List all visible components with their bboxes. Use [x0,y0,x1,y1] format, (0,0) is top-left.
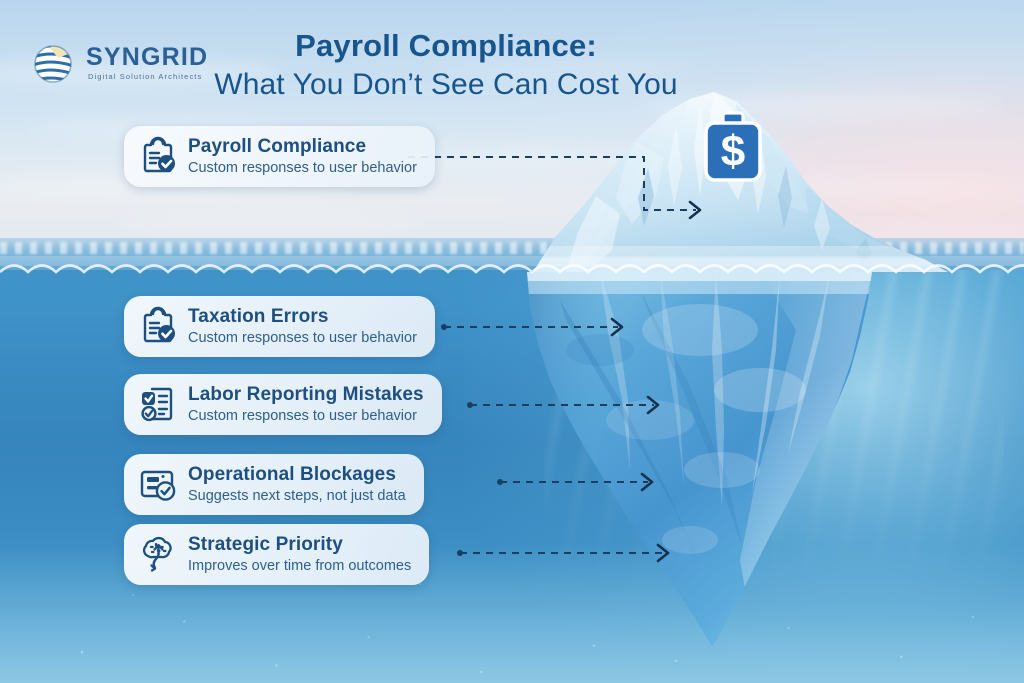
card-payroll-compliance[interactable]: Payroll Compliance Custom responses to u… [124,126,435,187]
cloud-wisp [120,215,420,231]
brain-growth-arrow-icon [138,534,178,574]
card-subtitle: Custom responses to user behavior [188,160,417,176]
infographic-canvas: $ [0,0,1024,683]
form-card-check-icon [138,464,178,504]
title-line-2: What You Don’t See Can Cost You [196,65,696,104]
card-subtitle: Custom responses to user behavior [188,330,417,346]
card-operational-blockages[interactable]: Operational Blockages Suggests next step… [124,454,424,515]
checklist-document-icon [138,384,178,424]
brand-tagline: Digital Solution Architects [88,73,208,81]
brand-name: SYNGRID [86,45,208,70]
money-briefcase-dollar-icon: $ [703,111,763,183]
card-title: Taxation Errors [188,306,417,327]
card-title: Labor Reporting Mistakes [188,384,424,405]
card-title: Payroll Compliance [188,136,417,157]
brand-logo[interactable]: SYNGRID Digital Solution Architects [28,38,208,88]
card-taxation-errors[interactable]: Taxation Errors Custom responses to user… [124,296,435,357]
title-line-1: Payroll Compliance: [196,28,696,65]
striped-globe-logo-icon [28,38,78,88]
clipboard-check-icon [138,136,178,176]
card-subtitle: Improves over time from outcomes [188,558,411,574]
clipboard-check-icon [138,306,178,346]
card-labor-reporting-mistakes[interactable]: Labor Reporting Mistakes Custom response… [124,374,442,435]
card-subtitle: Custom responses to user behavior [188,408,424,424]
card-title: Strategic Priority [188,534,411,555]
card-strategic-priority[interactable]: Strategic Priority Improves over time fr… [124,524,429,585]
card-subtitle: Suggests next steps, not just data [188,488,406,504]
page-title: Payroll Compliance: What You Don’t See C… [196,28,696,104]
dollar-symbol: $ [721,127,745,176]
card-title: Operational Blockages [188,464,406,485]
